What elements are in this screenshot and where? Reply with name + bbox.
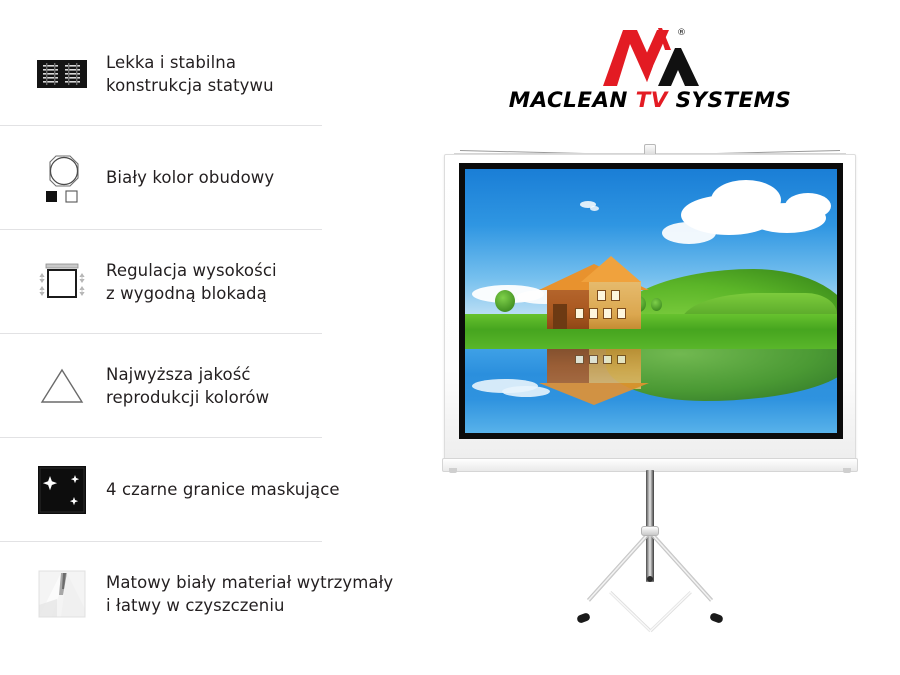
cloud bbox=[590, 206, 599, 211]
feature-label: Biały kolor obudowy bbox=[106, 166, 274, 189]
feature-label: Lekka i stabilna konstrukcja statywu bbox=[106, 51, 274, 98]
product-infographic: Lekka i stabilna konstrukcja statywu Bia… bbox=[0, 0, 900, 675]
tripod-foot-left bbox=[576, 612, 591, 624]
brand-wordmark-part1: MACLEAN bbox=[509, 88, 636, 113]
cloud bbox=[785, 193, 831, 219]
tripod-brace-left bbox=[609, 591, 651, 632]
house-window bbox=[603, 308, 612, 319]
reflected-house bbox=[539, 349, 649, 407]
feature-item-height-adjustment: Regulacja wysokości z wygodną blokadą bbox=[0, 230, 400, 334]
brand-wordmark-tv: TV bbox=[636, 88, 668, 113]
house-wing bbox=[589, 281, 641, 329]
feature-item-color-reproduction: Najwyższa jakość reprodukcji kolorów bbox=[0, 334, 400, 438]
house-window bbox=[617, 308, 626, 319]
tripod-brace-right bbox=[649, 591, 691, 632]
water-reflection bbox=[465, 349, 837, 433]
tripod-lock-collar bbox=[641, 526, 659, 536]
reflected-house-roof bbox=[539, 383, 649, 405]
cloud bbox=[662, 222, 716, 244]
screen-white-casing bbox=[444, 154, 856, 464]
reflected-window bbox=[575, 355, 584, 364]
black-masking-border-icon bbox=[34, 462, 90, 518]
tripod-hub bbox=[647, 576, 653, 582]
product-panel: ® MACLEAN TV SYSTEMS bbox=[400, 0, 900, 675]
feature-label: 4 czarne granice maskujące bbox=[106, 478, 340, 501]
brand-wordmark-part2: SYSTEMS bbox=[668, 88, 791, 113]
house-door bbox=[553, 304, 567, 329]
feature-label: Najwyższa jakość reprodukcji kolorów bbox=[106, 363, 269, 410]
product-image-projector-screen bbox=[440, 140, 860, 620]
house-window bbox=[575, 308, 584, 319]
reflected-window bbox=[589, 355, 598, 364]
tripod-foot-right bbox=[709, 612, 724, 624]
house bbox=[539, 264, 649, 332]
brand-logo: ® MACLEAN TV SYSTEMS bbox=[505, 26, 795, 121]
tripod-leg-right bbox=[649, 531, 714, 602]
feature-item-black-masking-borders: 4 czarne granice maskujące bbox=[0, 438, 400, 542]
tripod-stand bbox=[440, 470, 860, 620]
color-swatch-octagon-icon bbox=[34, 150, 90, 206]
feature-item-white-casing-color: Biały kolor obudowy bbox=[0, 126, 400, 230]
house-window bbox=[597, 290, 606, 301]
grass-band bbox=[465, 314, 837, 348]
feature-item-tripod-construction: Lekka i stabilna konstrukcja statywu bbox=[0, 22, 400, 126]
reflected-cloud bbox=[502, 386, 550, 397]
house-wing-roof bbox=[581, 256, 641, 282]
screen-black-masking-border bbox=[459, 163, 843, 439]
reflected-window bbox=[617, 355, 626, 364]
reflected-window bbox=[603, 355, 612, 364]
feature-label: Regulacja wysokości z wygodną blokadą bbox=[106, 259, 277, 306]
brand-wordmark: MACLEAN TV SYSTEMS bbox=[505, 88, 795, 113]
feature-list: Lekka i stabilna konstrukcja statywu Bia… bbox=[0, 22, 400, 642]
projected-image bbox=[465, 169, 837, 433]
height-adjust-screen-icon bbox=[34, 254, 90, 310]
house-window bbox=[589, 308, 598, 319]
matte-fabric-icon bbox=[34, 566, 90, 622]
tripod-leg-left bbox=[587, 531, 652, 602]
registered-trademark-symbol: ® bbox=[677, 28, 686, 38]
feature-item-matte-white-material: Matowy biały materiał wytrzymały i łatwy… bbox=[0, 542, 400, 646]
prism-triangle-icon bbox=[34, 358, 90, 414]
house-window bbox=[611, 290, 620, 301]
maclean-m-logo-icon bbox=[601, 26, 705, 88]
feature-label: Matowy biały materiał wytrzymały i łatwy… bbox=[106, 571, 393, 618]
tripod-legs-icon bbox=[34, 46, 90, 102]
